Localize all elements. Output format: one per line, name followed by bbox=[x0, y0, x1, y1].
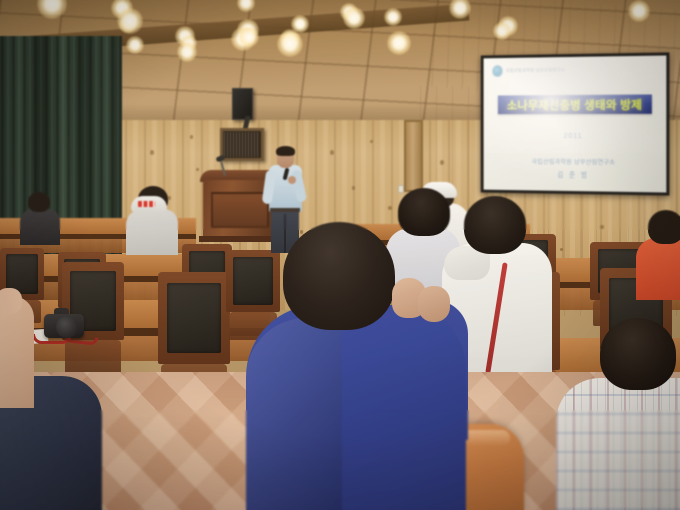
orange-shirt-head bbox=[648, 210, 680, 244]
ceiling-light-12 bbox=[343, 7, 365, 29]
framed-photo bbox=[224, 132, 260, 157]
wood-knot-16 bbox=[600, 225, 604, 229]
wood-knot-18 bbox=[560, 248, 563, 251]
side-door[interactable] bbox=[404, 120, 423, 192]
wood-knot-6 bbox=[352, 186, 355, 190]
blue-shirt-head bbox=[283, 222, 395, 330]
chair-backrest-pad bbox=[233, 257, 273, 305]
projection-screen: 국립산림과학원 남부산림연구소 소나무재선충병 생태와 방제 2011 국립산림… bbox=[484, 56, 667, 193]
presenter-leg-split bbox=[284, 214, 286, 253]
ceiling-light-22 bbox=[387, 31, 411, 55]
hoodie-logo bbox=[138, 201, 155, 207]
presenter-hair bbox=[276, 146, 295, 156]
slide-year: 2011 bbox=[484, 133, 667, 141]
plaid-shirt-head bbox=[600, 318, 676, 390]
seminar-room-photo: 국립산림과학원 남부산림연구소 소나무재선충병 생태와 방제 2011 국립산림… bbox=[0, 0, 680, 510]
institute-logo-icon bbox=[492, 65, 503, 77]
wood-knot-7 bbox=[370, 140, 373, 143]
slide-title: 소나무재선충병 생태와 방제 bbox=[507, 96, 642, 113]
chair-legs bbox=[65, 340, 121, 375]
camera-lens-icon bbox=[56, 316, 78, 338]
white-hoodie-head bbox=[464, 196, 526, 254]
wood-knot-1 bbox=[150, 150, 154, 155]
ceiling-light-21 bbox=[277, 31, 303, 57]
gray-hoodie-body bbox=[126, 209, 178, 255]
ceiling-light-18 bbox=[628, 0, 650, 22]
slide-logo-text: 국립산림과학원 남부산림연구소 bbox=[506, 67, 566, 74]
orange-shirt-body bbox=[636, 238, 680, 300]
wood-knot-9 bbox=[440, 160, 444, 165]
presenter-belt bbox=[270, 208, 300, 212]
slide-organization: 국립산림과학원 남부산림연구소 bbox=[484, 156, 667, 167]
ceiling-light-23 bbox=[239, 27, 259, 47]
ceiling-light-5 bbox=[117, 8, 143, 34]
ceiling-light-17 bbox=[493, 22, 511, 40]
presenter-hand bbox=[288, 176, 296, 184]
dark-jacket-head bbox=[28, 192, 50, 212]
wood-knot-5 bbox=[330, 150, 334, 155]
near-left-hand bbox=[0, 288, 22, 314]
ceiling-light-14 bbox=[384, 8, 402, 26]
lectern-base bbox=[199, 236, 281, 242]
slide-title-band: 소나무재선충병 생태와 방제 bbox=[498, 94, 652, 114]
ceiling-light-19 bbox=[126, 36, 144, 54]
wood-knot-3 bbox=[196, 168, 199, 171]
wood-knot-19 bbox=[190, 135, 193, 139]
dark-jacket-body bbox=[20, 209, 60, 245]
chair-backrest-pad bbox=[167, 283, 221, 353]
ceiling-light-11 bbox=[177, 42, 197, 62]
wood-knot-2 bbox=[168, 196, 171, 200]
light-switch[interactable] bbox=[398, 185, 404, 193]
lectern-panel bbox=[211, 192, 269, 228]
slide-presenter-name: 김 준 범 bbox=[484, 168, 667, 180]
slide-logo: 국립산림과학원 남부산림연구소 bbox=[492, 64, 565, 77]
plaid-pattern bbox=[556, 378, 680, 510]
center-back-head bbox=[398, 188, 450, 236]
blue-shirt-hand-right bbox=[418, 286, 450, 322]
blue-shirt-shoulder bbox=[246, 318, 342, 510]
wood-knot-8 bbox=[388, 206, 392, 210]
